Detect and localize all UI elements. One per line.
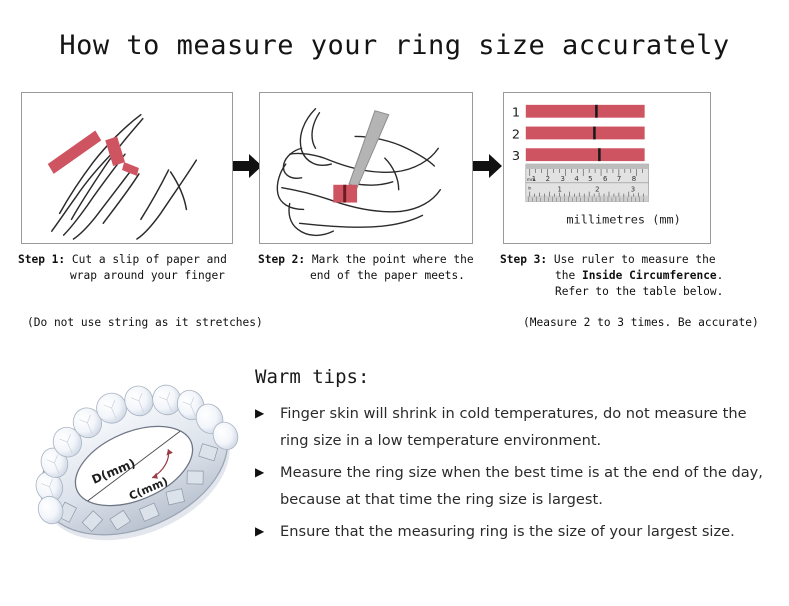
svg-text:3: 3 (560, 175, 564, 183)
tip-text: Ensure that the measuring ring is the si… (280, 523, 735, 540)
bullet-triangle-icon: ▶ (255, 518, 264, 545)
paper-strip-2 (526, 127, 645, 140)
strip-1-mark (595, 105, 598, 118)
arrow-step2-to-step3-icon (473, 152, 503, 180)
step-3-line2-suffix: . (717, 269, 724, 282)
step-1-note: (Do not use string as it stretches) (27, 316, 263, 329)
inside-circumference-emphasis: Inside Circumference (582, 269, 717, 282)
step-1-caption: Step 1: Cut a slip of paper andwrap arou… (18, 252, 243, 284)
svg-text:5: 5 (588, 175, 592, 183)
bullet-triangle-icon: ▶ (255, 400, 264, 427)
svg-text:7: 7 (617, 175, 621, 183)
paper-strip-1 (526, 105, 645, 118)
hand-marking-strip-drawing (260, 93, 472, 243)
svg-text:3: 3 (631, 186, 635, 194)
strip-label-2: 2 (512, 127, 520, 142)
step-2-line2: end of the paper meets. (258, 268, 488, 284)
step-1-line2: wrap around your finger (18, 268, 243, 284)
step-3-line3: Refer to the table below. (500, 284, 750, 300)
page-title: How to measure your ring size accurately (0, 30, 789, 61)
bullet-triangle-icon: ▶ (255, 459, 264, 486)
strip-2-mark (593, 127, 596, 140)
step-2-label: Step 2: (258, 253, 305, 266)
step-2-caption: Step 2: Mark the point where theend of t… (258, 252, 488, 284)
step-3-note: (Measure 2 to 3 times. Be accurate) (523, 316, 759, 329)
tip-text: Finger skin will shrink in cold temperat… (280, 405, 747, 449)
ruler: mm 12 34 56 78 1 2 3 in (526, 164, 649, 202)
svg-text:2: 2 (546, 175, 550, 183)
step-3-line2-prefix: the (555, 269, 582, 282)
step-3-label: Step 3: (500, 253, 547, 266)
svg-text:2: 2 (595, 186, 599, 194)
strip-label-1: 1 (512, 106, 520, 121)
step-3-line1: Use ruler to measure the (554, 253, 716, 266)
step-2-line1: Mark the point where the (312, 253, 474, 266)
strip-label-3: 3 (512, 149, 520, 164)
svg-text:4: 4 (574, 175, 578, 183)
step-3-line2: the Inside Circumference. (500, 268, 750, 284)
eternity-ring-illustration: D(mm) C(mm) (18, 348, 250, 576)
ring-diagram: D(mm) C(mm) (18, 348, 250, 576)
list-item: ▶ Finger skin will shrink in cold temper… (255, 400, 775, 454)
svg-text:in: in (528, 186, 532, 191)
svg-text:6: 6 (603, 175, 607, 183)
step-1-illustration-panel (21, 92, 233, 244)
tip-text: Measure the ring size when the best time… (280, 464, 763, 508)
step-1-line1: Cut a slip of paper and (72, 253, 227, 266)
warm-tips-list: ▶ Finger skin will shrink in cold temper… (255, 400, 775, 550)
step-2-illustration-panel (259, 92, 473, 244)
ruler-with-strips-drawing: 1 2 3 (504, 93, 710, 243)
step-3-caption: Step 3: Use ruler to measure thethe Insi… (500, 252, 750, 300)
svg-text:8: 8 (632, 175, 636, 183)
list-item: ▶ Ensure that the measuring ring is the … (255, 518, 775, 545)
paper-strip-loose (48, 131, 101, 174)
paper-strip-on-finger (333, 185, 357, 203)
ruler-unit-caption: millimetres (mm) (566, 212, 680, 226)
svg-text:1: 1 (557, 186, 561, 194)
strip-3-mark (598, 148, 601, 161)
step-1-label: Step 1: (18, 253, 65, 266)
list-item: ▶ Measure the ring size when the best ti… (255, 459, 775, 513)
paper-strip-3 (526, 148, 645, 161)
warm-tips-heading: Warm tips: (255, 366, 369, 388)
step-3-ruler-panel: 1 2 3 (503, 92, 711, 244)
hand-with-paper-strip-drawing (22, 93, 232, 243)
svg-text:1: 1 (532, 175, 536, 183)
ring-size-guide-page: How to measure your ring size accurately (0, 0, 789, 606)
